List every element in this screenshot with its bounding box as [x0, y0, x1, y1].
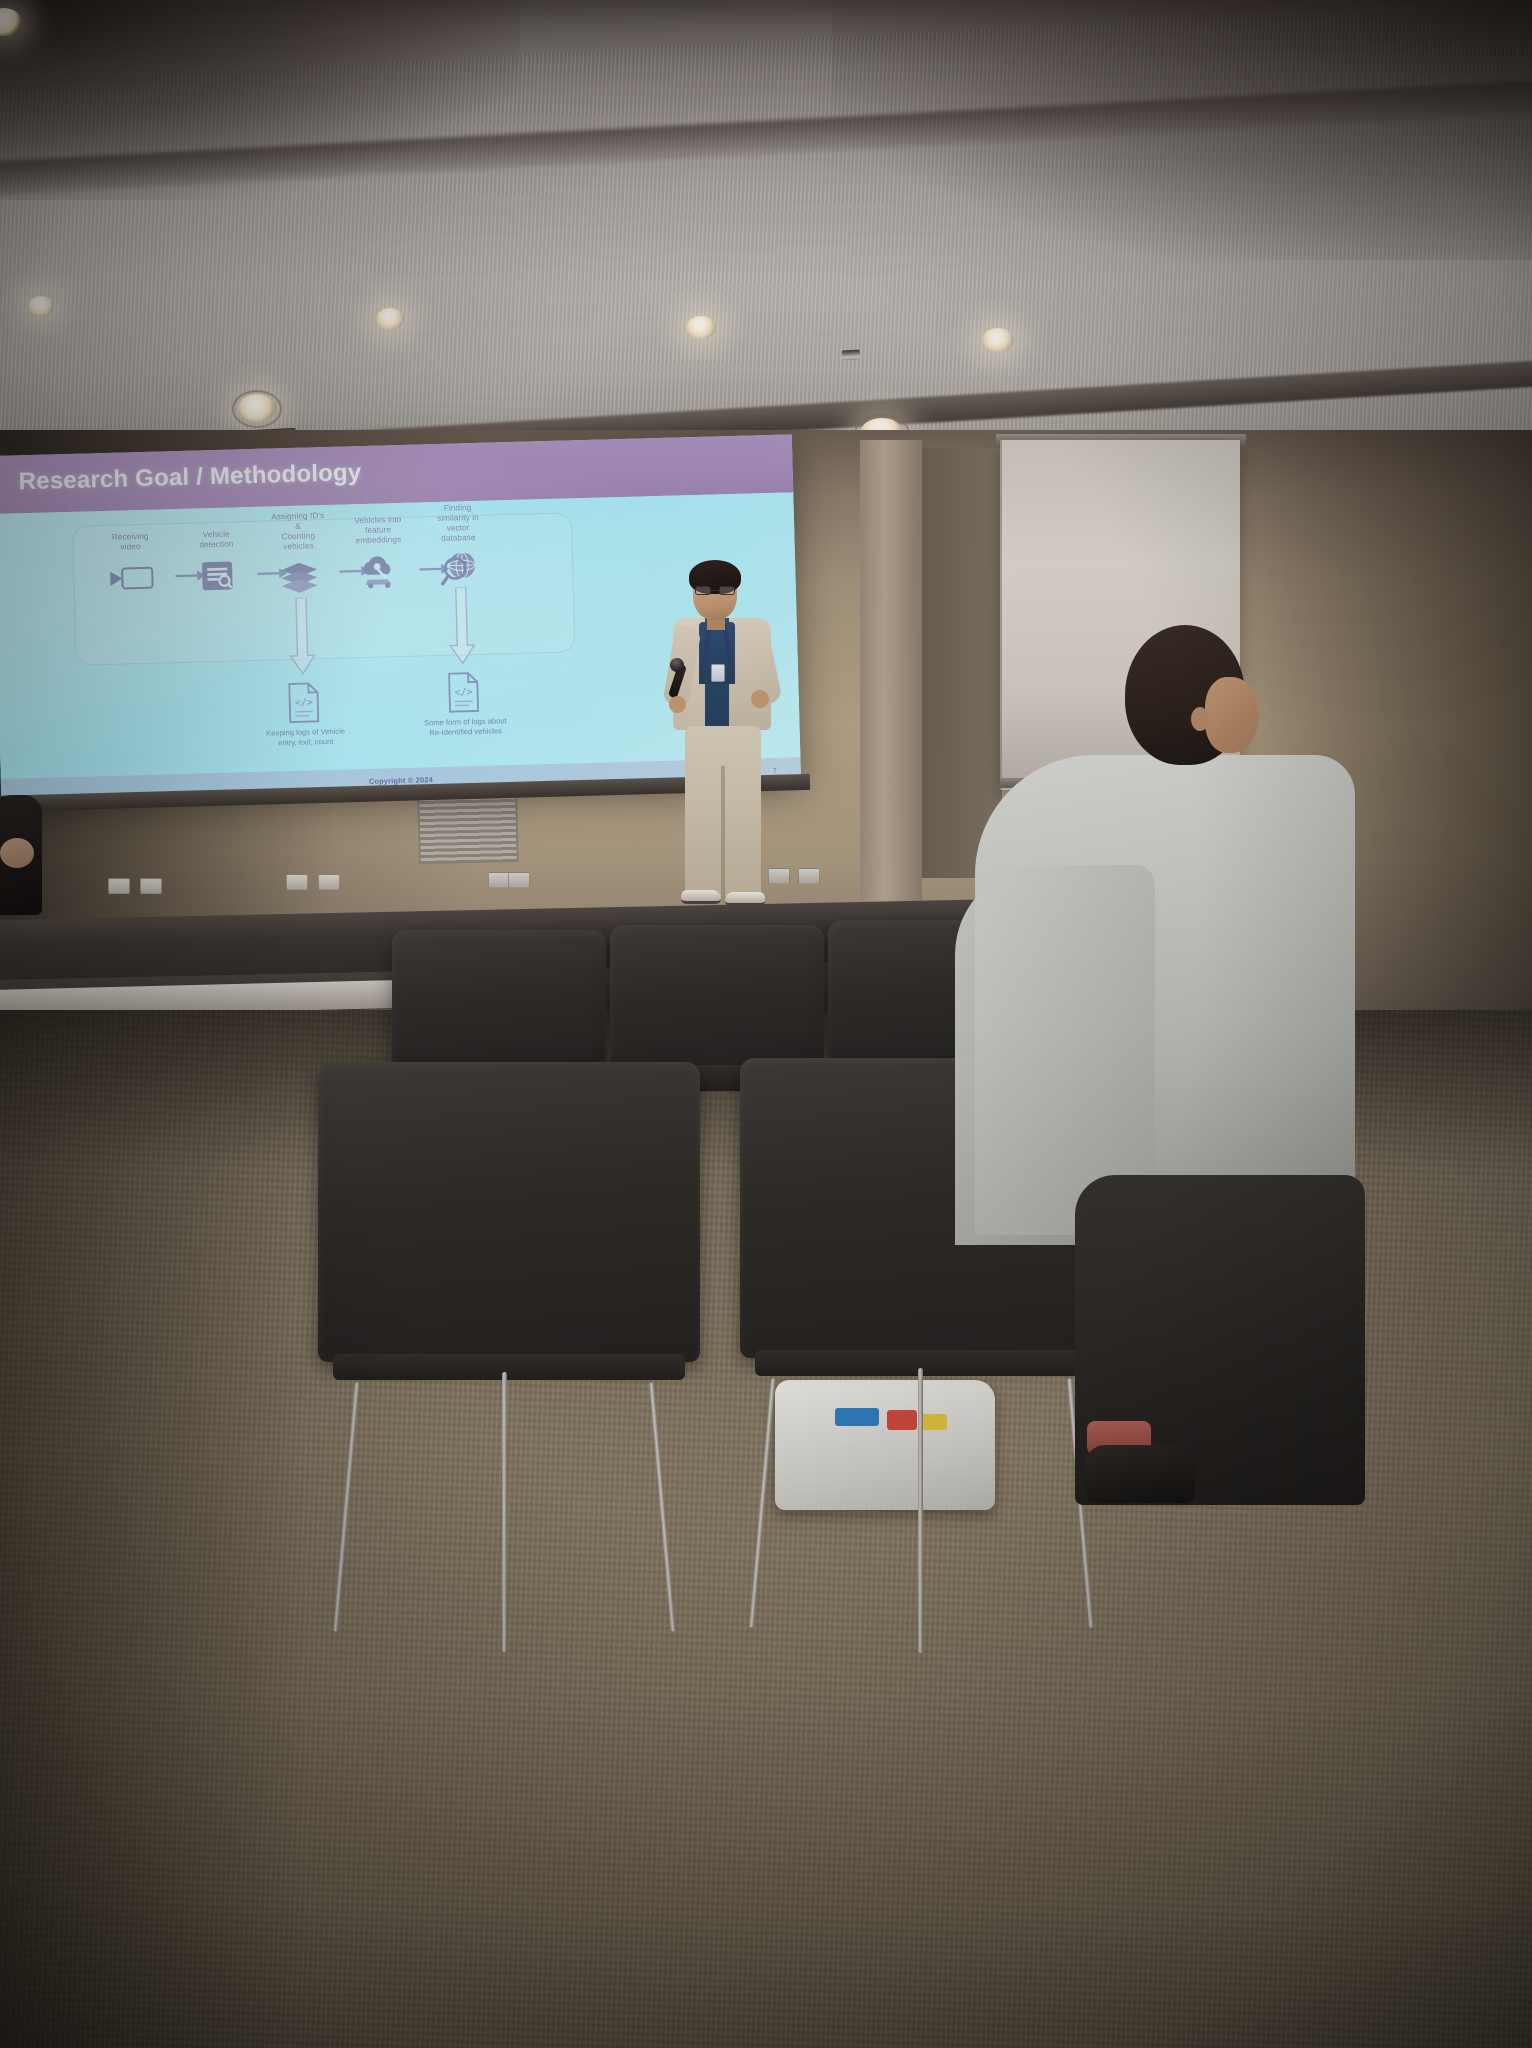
document-search-icon	[194, 555, 241, 596]
downlight-5-rim	[232, 390, 282, 428]
chair-row1-right-leg-c	[918, 1368, 923, 1653]
stacked-layers-icon	[276, 557, 323, 598]
chair-row1-left[interactable]	[318, 1062, 700, 1362]
presenter-hand-right	[751, 690, 769, 708]
presenter-lanyard	[701, 624, 733, 676]
magnifier-sphere-icon	[436, 549, 483, 590]
cloud-car-icon	[356, 551, 403, 592]
pipeline-step-1: Receiving video	[82, 531, 180, 600]
audience-shoe	[1085, 1445, 1195, 1503]
downlight-4	[982, 328, 1014, 352]
output-arrow-2	[448, 587, 476, 666]
bag-print-1	[835, 1408, 879, 1426]
wall-socket-2[interactable]	[140, 878, 162, 894]
chair-backrest	[318, 1062, 700, 1362]
downlight-1	[28, 296, 54, 316]
presenter	[655, 560, 795, 940]
av-grille	[417, 794, 519, 864]
bag-print-2	[887, 1410, 917, 1430]
wall-socket-5[interactable]	[488, 872, 510, 888]
carpet-shadow-left	[0, 1010, 360, 2048]
presenter-shoe-left	[681, 890, 721, 904]
audience-ear	[1191, 707, 1209, 731]
wall-socket-4[interactable]	[318, 874, 340, 890]
video-camera-icon	[108, 558, 155, 599]
pipeline-step-1-label: Receiving video	[82, 531, 179, 554]
wall-socket-8[interactable]	[798, 868, 820, 884]
smoke-detector	[842, 350, 860, 361]
downlight-2	[376, 308, 404, 330]
ceiling-shadow-left	[0, 0, 520, 200]
presenter-trouser-seam	[721, 766, 725, 896]
chair-backrest	[392, 930, 606, 1078]
chair-row2-left[interactable]	[392, 930, 606, 1078]
wall-column	[860, 440, 922, 960]
code-document-icon-1: </>	[286, 681, 321, 724]
photo-canvas: Research Goal / Methodology Receiving vi…	[0, 0, 1532, 2048]
output-caption-2: Some form of logs about Re-Identified ve…	[390, 715, 540, 738]
wall-socket-6[interactable]	[508, 872, 530, 888]
chair-row1-left-leg-c	[502, 1372, 507, 1652]
chair-seat	[333, 1354, 684, 1380]
audience-face	[1205, 677, 1259, 753]
downlight-3	[686, 316, 716, 339]
output-arrow-1	[288, 597, 316, 676]
glasses-icon	[695, 586, 735, 595]
bag-print-3	[921, 1414, 947, 1430]
wall-socket-3[interactable]	[286, 874, 308, 890]
presenter-hand-left	[669, 696, 686, 713]
svg-text:</>: </>	[454, 687, 472, 698]
output-caption-1: Keeping logs of Vehicle entry, exit, cou…	[230, 726, 380, 749]
ceiling-shadow-right	[832, 0, 1532, 260]
glasses-lens-left	[695, 586, 711, 595]
svg-text:</>: </>	[295, 697, 313, 708]
chair-backrest	[610, 925, 824, 1073]
pipeline-step-5: Finding similarity in vector database	[409, 502, 507, 591]
code-document-icon-2: </>	[446, 671, 481, 714]
presenter-badge	[711, 664, 725, 682]
audience-left-hand	[0, 838, 34, 868]
wall-socket-1[interactable]	[108, 878, 130, 894]
glasses-bridge	[711, 590, 719, 591]
pipeline-step-5-label: Finding similarity in vector database	[409, 502, 506, 545]
audience-person-right	[955, 615, 1355, 1495]
glasses-lens-right	[719, 586, 735, 595]
chair-row2-center[interactable]	[610, 925, 824, 1073]
